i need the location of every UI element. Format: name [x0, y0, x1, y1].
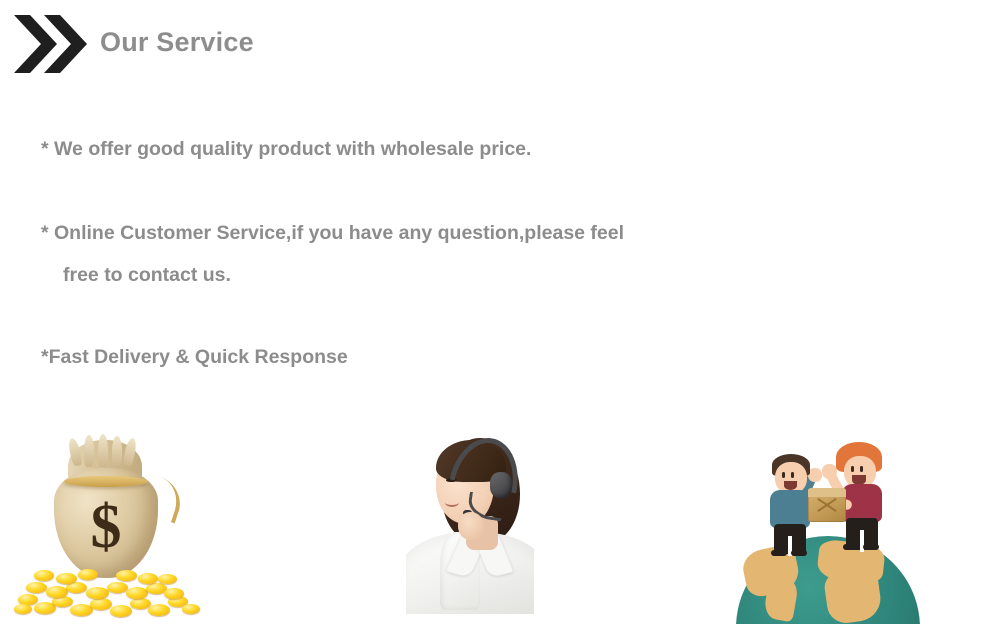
service-point-online-support: * Online Customer Service,if you have an… [41, 212, 841, 254]
global-delivery-image [730, 438, 926, 624]
character-shoe [791, 550, 807, 556]
service-points-list: * We offer good quality product with who… [41, 128, 841, 378]
character-eye [782, 472, 785, 478]
character-eye [851, 466, 854, 472]
agent-hand [458, 512, 484, 540]
page-header: Our Service [0, 0, 1000, 90]
character-shoe [863, 544, 879, 550]
character-shoe [843, 544, 859, 550]
money-bag-ruffle [84, 435, 94, 467]
customer-service-agent-image [406, 424, 534, 614]
continent-shape [763, 576, 800, 623]
service-point-online-support-continued: free to contact us. [41, 254, 841, 296]
service-point-quality: * We offer good quality product with who… [41, 128, 841, 170]
money-bag-with-gold-coins-image: $ [12, 432, 202, 624]
money-bag-ruffle [112, 436, 122, 466]
service-page: Our Service * We offer good quality prod… [0, 0, 1000, 624]
parcel-flap [808, 488, 846, 497]
dollar-sign-icon: $ [54, 484, 158, 570]
character-eye [860, 466, 863, 472]
service-imagery-row: $ [0, 420, 1000, 624]
agent-smile [445, 498, 459, 507]
continent-shape [823, 566, 884, 624]
service-point-fast-delivery: *Fast Delivery & Quick Response [41, 336, 841, 378]
page-title: Our Service [100, 27, 254, 58]
character-mouth [784, 481, 797, 490]
character-shoe [771, 550, 787, 556]
parcel-box-icon [808, 488, 846, 522]
character-eye [791, 472, 794, 478]
character-hand [808, 468, 822, 482]
double-chevron-right-icon [10, 13, 88, 75]
money-bag-ruffle [98, 434, 108, 467]
character-hand [822, 464, 837, 479]
gold-coin-pile [12, 560, 202, 622]
